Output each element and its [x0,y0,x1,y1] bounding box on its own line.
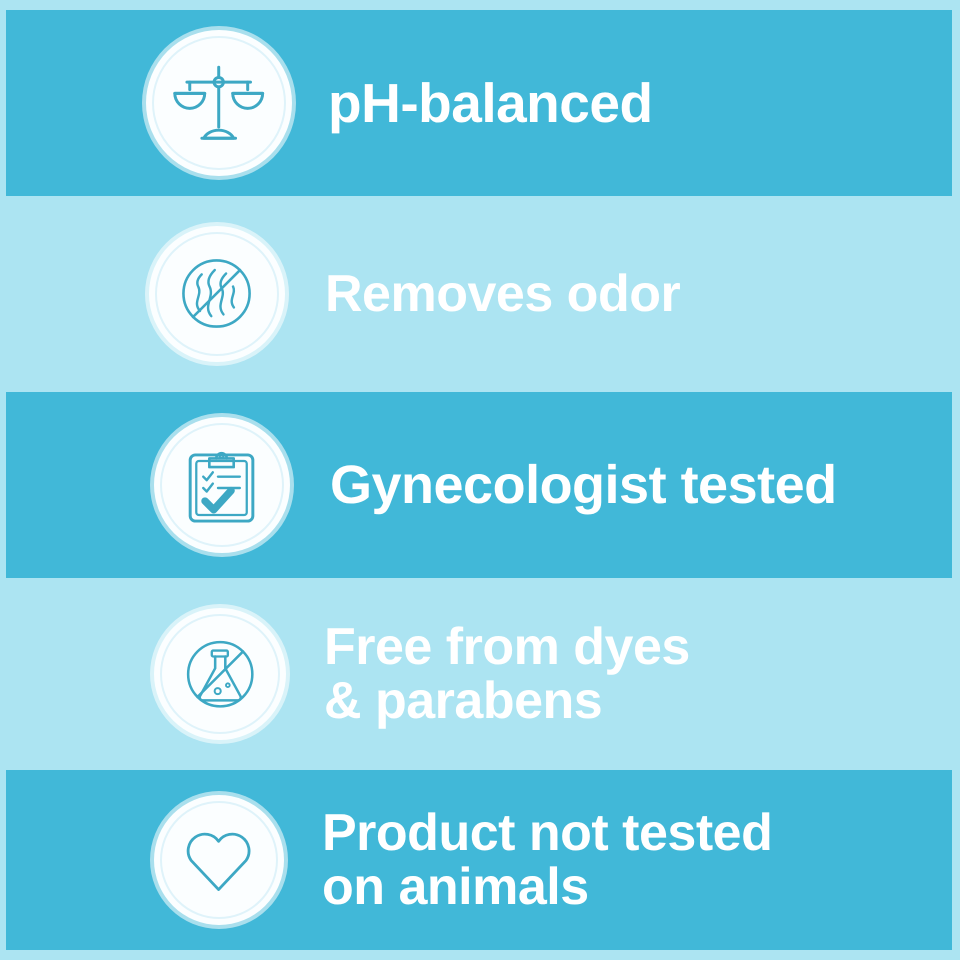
benefit-label: Removes odor [325,268,680,320]
benefit-label: Free from dyes & parabens [324,620,690,728]
no-flask-icon [178,632,262,716]
benefit-icon-container [146,30,292,176]
benefit-label: Gynecologist tested [330,458,837,512]
benefit-row-removes-odor: Removes odor [6,200,952,388]
infographic-board: pH-balanced Removes odor [0,0,960,960]
heart-icon [177,818,260,901]
benefit-label: pH-balanced [328,76,653,131]
balance-scale-icon [172,56,265,149]
benefit-row-ph-balanced: pH-balanced [6,10,952,196]
clipboard-check-icon [178,441,265,528]
benefit-row-not-tested-on-animals: Product not tested on animals [6,770,952,950]
benefit-icon-container [154,608,286,740]
benefit-label: Product not tested on animals [322,806,772,914]
benefit-row-free-from-dyes: Free from dyes & parabens [6,582,952,766]
benefit-icon-container [149,226,285,362]
benefit-icon-container [154,795,284,925]
no-odor-icon [173,250,260,337]
benefit-icon-container [154,417,290,553]
benefit-row-gynecologist-tested: Gynecologist tested [6,392,952,578]
